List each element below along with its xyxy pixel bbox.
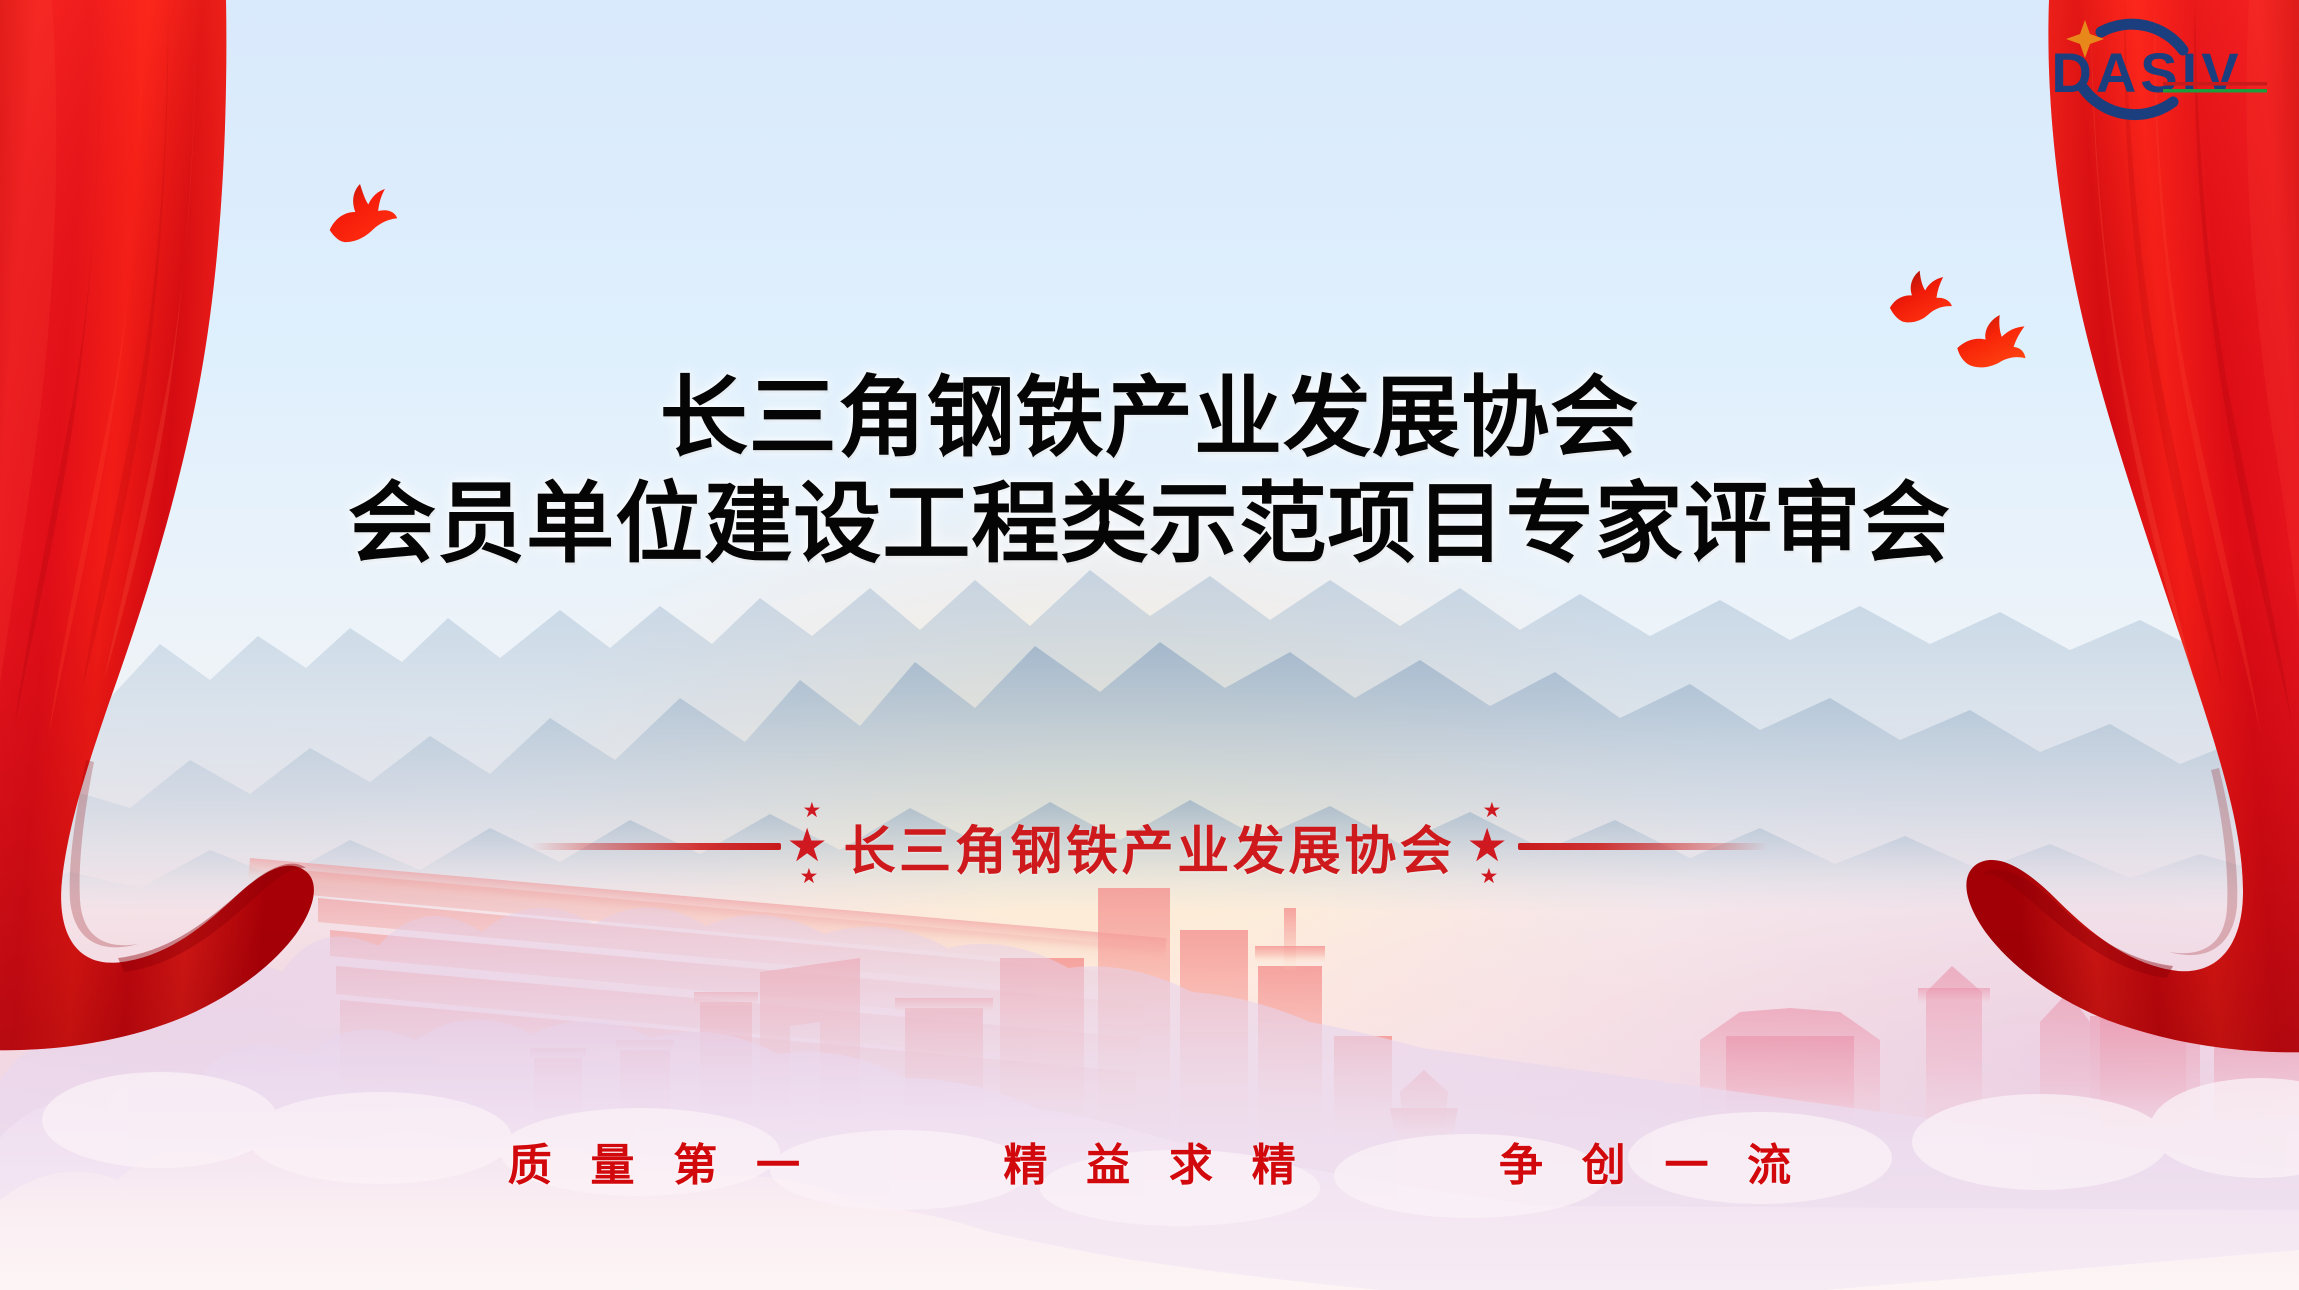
flying-bird-icon — [1883, 266, 1955, 333]
conference-backdrop-poster: DASIV 长三角钢铁产业发展协会 会员单位建设工程类示范项目专家评审会 ★ ★… — [0, 0, 2299, 1290]
logo-rule-green — [2163, 89, 2267, 93]
page-title-line-1: 长三角钢铁产业发展协会 — [0, 368, 2299, 468]
subtitle-rule-left — [531, 843, 781, 850]
mountain-range-backdrop — [0, 430, 2299, 910]
logo-rule-red — [2163, 82, 2267, 86]
cloud-bank — [0, 870, 2299, 1290]
warm-center-glow — [504, 490, 1704, 1110]
dasiv-logo[interactable]: DASIV — [2023, 10, 2271, 122]
red-silk-curtain-right — [1839, 0, 2299, 1060]
flying-bird-icon — [1952, 306, 2031, 379]
slogan-group-2: 精益求精 — [965, 1129, 1335, 1193]
left-purple-haze — [0, 710, 1035, 1290]
page-title-line-2: 会员单位建设工程类示范项目专家评审会 — [0, 474, 2299, 574]
slogan-group-1: 质量第一 — [469, 1129, 839, 1193]
flying-bird-icon — [319, 174, 402, 252]
right-purple-haze — [1264, 710, 2299, 1290]
subtitle-rule-right — [1518, 843, 1768, 850]
star-icon: ★ — [1483, 800, 1502, 821]
star-icon: ★ — [802, 800, 821, 821]
star-cluster-left: ★ ★ ★ — [781, 800, 837, 892]
red-silk-curtain-left — [0, 0, 410, 1060]
slogan-group-3: 争创一流 — [1460, 1129, 1830, 1193]
star-icon: ★ — [1467, 822, 1508, 868]
subtitle-banner: ★ ★ ★ 长三角钢铁产业发展协会 ★ ★ ★ — [0, 800, 2299, 892]
star-cluster-right: ★ ★ ★ — [1462, 800, 1518, 892]
subtitle-text: 长三角钢铁产业发展协会 — [837, 809, 1461, 884]
star-icon: ★ — [786, 822, 827, 868]
star-icon: ★ — [1480, 866, 1499, 887]
logo-wordmark: DASIV — [2051, 41, 2242, 104]
main-title-block: 长三角钢铁产业发展协会 会员单位建设工程类示范项目专家评审会 — [0, 368, 2299, 575]
star-icon: ★ — [799, 866, 818, 887]
slogan-strip: 质量第一 精益求精 争创一流 — [0, 1129, 2299, 1193]
city-skyline-and-landmarks — [0, 740, 2299, 1140]
